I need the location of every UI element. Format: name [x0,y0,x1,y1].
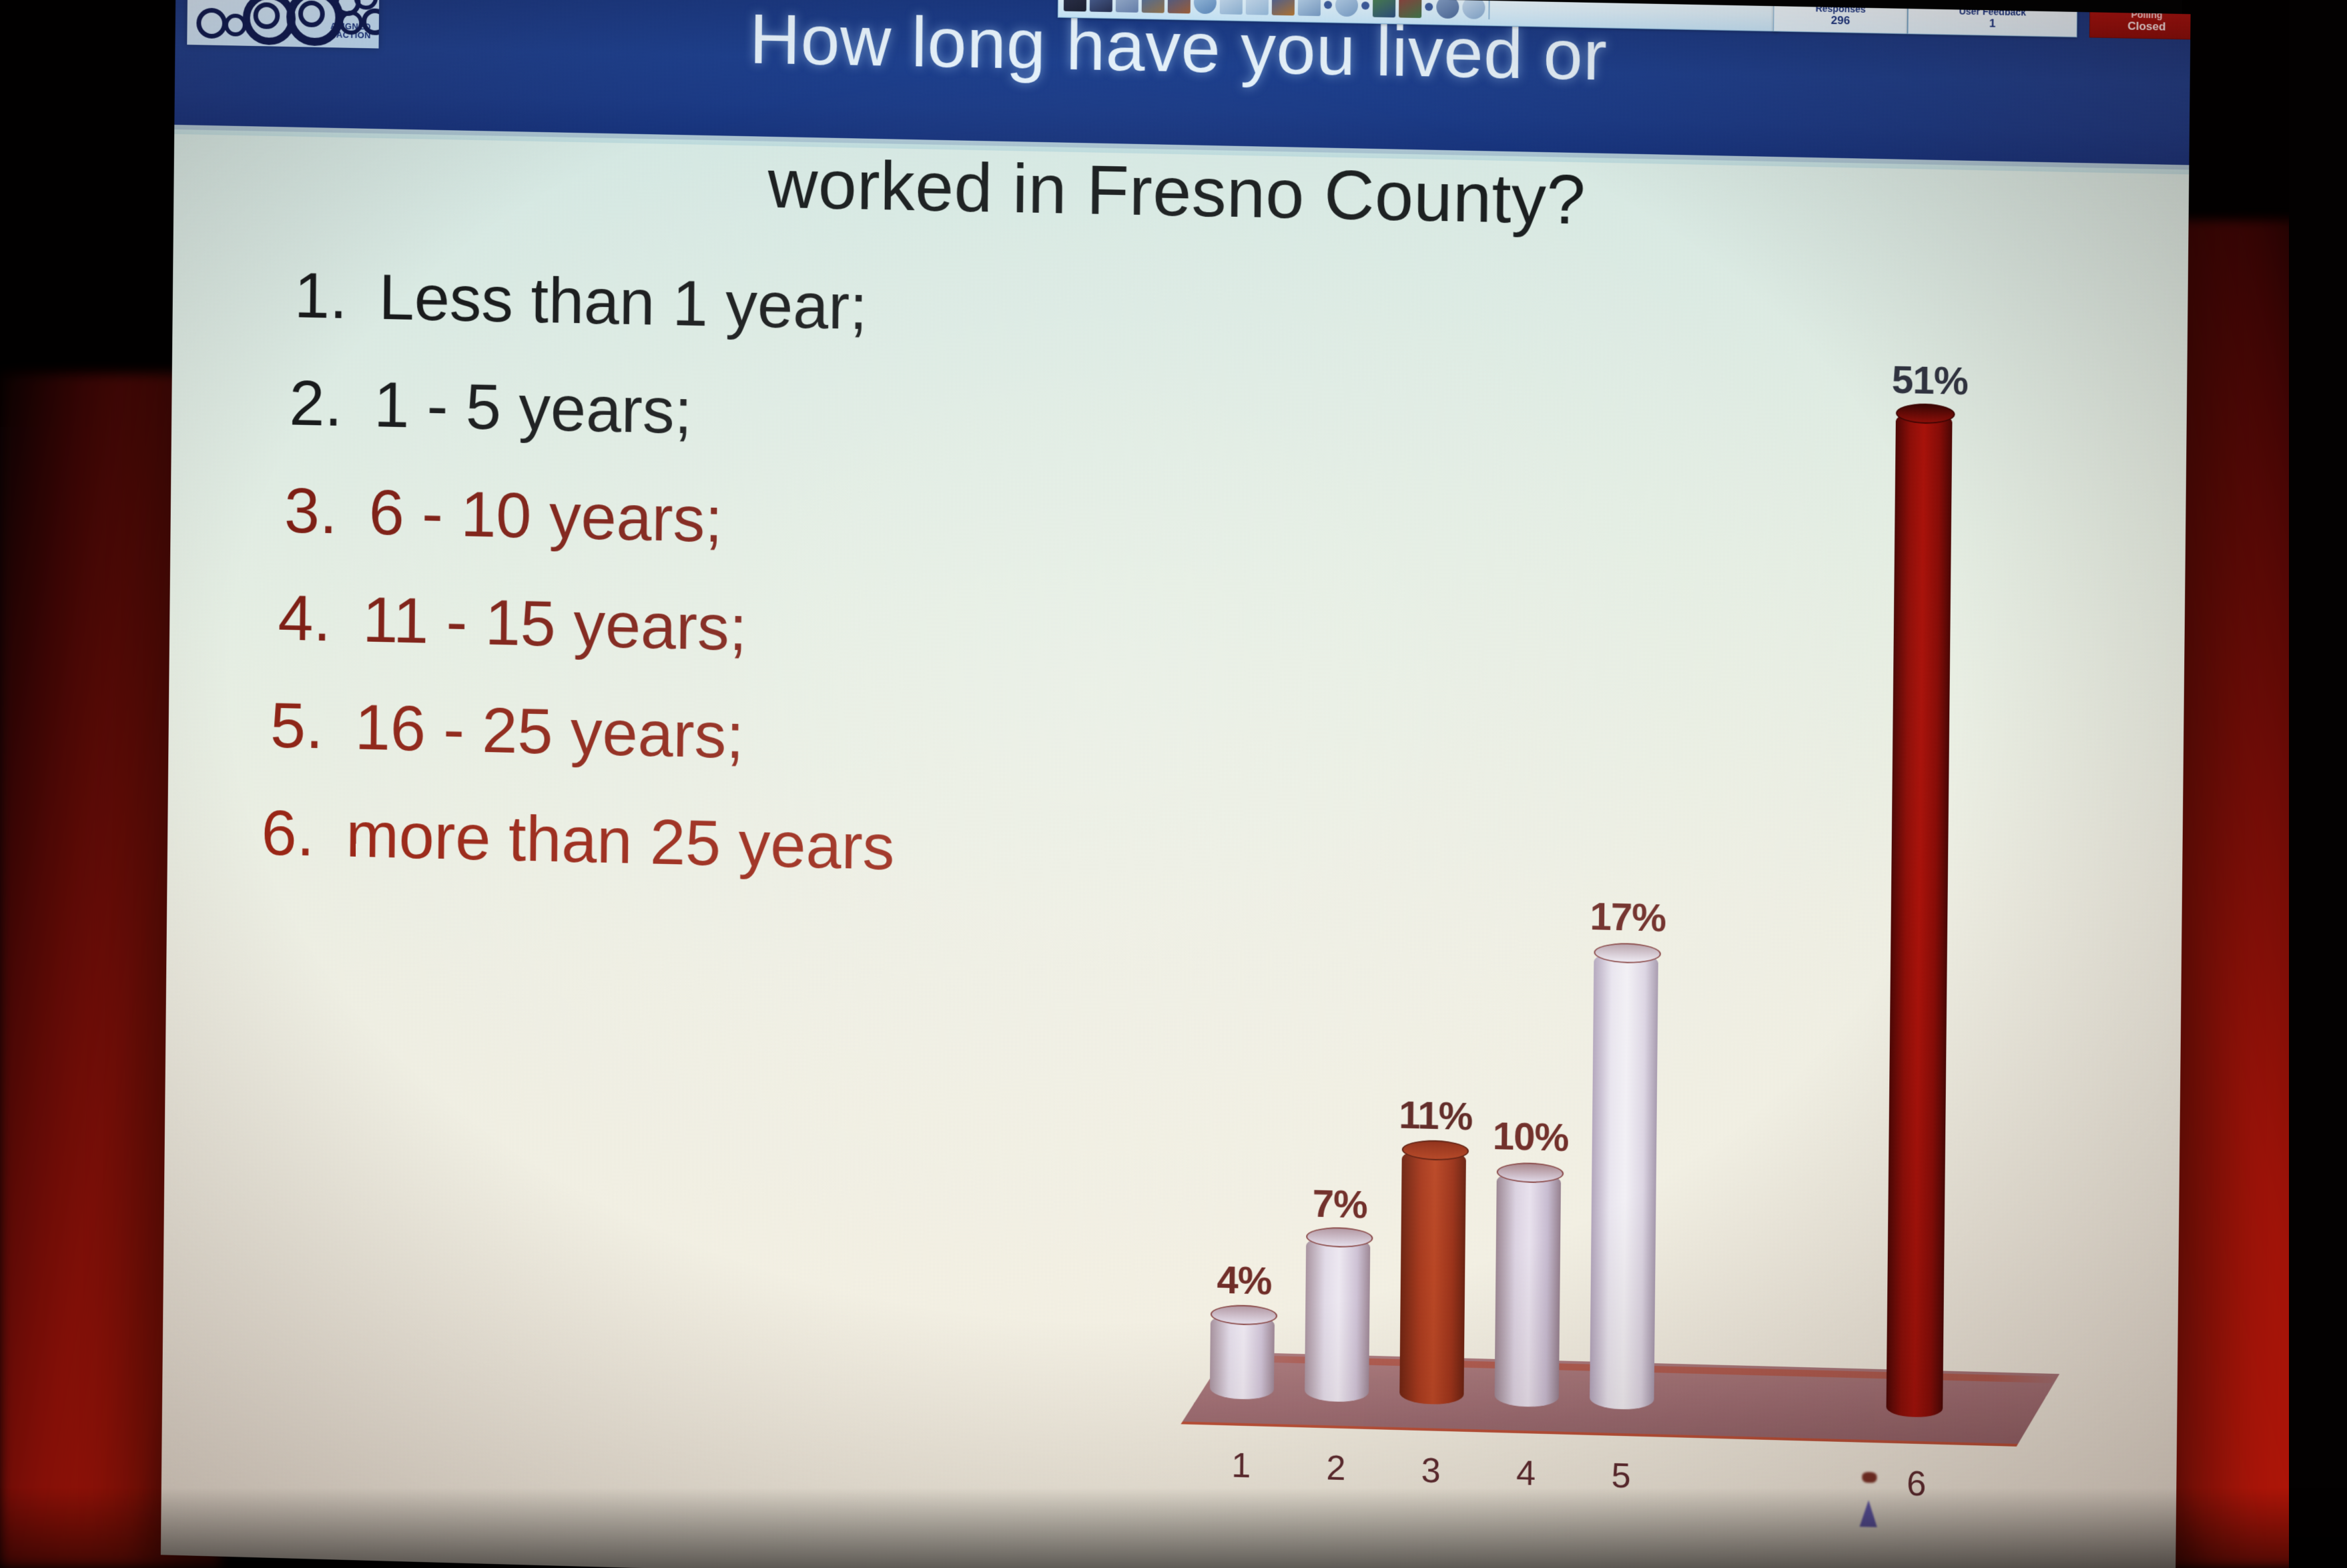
responses-value: 296 [1831,14,1851,26]
gear-icon-6 [298,1,325,28]
globe-icon[interactable] [1194,0,1217,14]
chart-bar [1305,1235,1371,1403]
answer-number: 3. [284,478,370,545]
chart-bar [1886,412,1952,1418]
chart-bar-cap [1594,942,1661,964]
chart-bar-cap [1402,1140,1469,1162]
answer-text: 1 - 5 years; [374,372,693,444]
answer-number: 4. [278,586,363,653]
group-icon[interactable] [1373,0,1395,17]
chart-bar [1210,1313,1275,1401]
projected-slide-wrapper: How long have you lived or worked in Fre… [161,0,2191,1568]
x-axis-tick-3: 3 [1391,1450,1471,1492]
dot-icon[interactable] [1361,1,1369,9]
bar-data-label: 17% [1561,893,1696,941]
chart-bar [1494,1170,1561,1407]
connect-icon[interactable] [1436,0,1459,19]
document-icon[interactable] [1220,0,1243,15]
user-feedback-counter[interactable]: User Feedback 1 [1908,0,2078,37]
answer-text: more than 25 years [346,802,895,880]
page-icon[interactable] [1246,0,1269,15]
chart-bar-cap [1896,403,1955,424]
chart-bar-cap [1497,1162,1564,1184]
chart-bar-cap [1211,1304,1277,1326]
chart-bar-cap [1306,1226,1373,1248]
projection-photo: How long have you lived or worked in Fre… [0,0,2347,1568]
polling-status-label: Polling [2131,9,2162,19]
bar-data-label: 4% [1177,1256,1311,1304]
cut-icon[interactable] [1116,0,1138,13]
answer-number: 1. [294,264,380,330]
answer-text: 6 - 10 years; [368,480,723,552]
x-axis-tick-2: 2 [1296,1447,1377,1489]
answer-number: 5. [270,693,356,760]
user-feedback-value: 1 [1989,17,1996,29]
list-icon[interactable] [1298,0,1321,16]
bottom-shadow [0,1488,2347,1568]
circle-icon[interactable] [1335,0,1358,17]
gear-icon-9 [339,11,363,35]
dark-room-right-edge [2289,0,2347,1568]
answer-number: 6. [261,800,346,867]
results-chart: 4% 7% 11% 10% [1150,195,2148,1529]
chart-icon[interactable] [1142,0,1164,13]
toolbar-separator [1488,0,1489,19]
gear-icon-4 [253,2,280,29]
presentation-pointer-dot [1862,1472,1877,1483]
answer-number: 2. [289,371,374,438]
user-feedback-label: User Feedback [1959,6,2027,17]
bar-data-label: 10% [1463,1113,1598,1161]
image-icon[interactable] [1168,0,1191,13]
polling-status-value: Closed [2127,20,2165,32]
answer-text: 16 - 25 years; [354,695,744,769]
dot2-icon[interactable] [1425,3,1433,11]
bar-data-label: 51% [1863,357,1997,405]
bullet-icon[interactable] [1324,1,1332,9]
palette-icon[interactable] [1399,0,1421,18]
collective-focus-logo: COLLECTIVE FOCUS ALIGNED ACTION [187,0,379,49]
polling-status-badge[interactable]: Polling Closed [2089,1,2191,40]
gear-icon-1 [196,8,227,39]
presentation-slide: How long have you lived or worked in Fre… [161,0,2191,1568]
answer-text: Less than 1 year; [378,265,868,340]
responses-counter[interactable]: Responses 296 [1773,0,1908,34]
x-axis-tick-1: 1 [1201,1445,1282,1487]
chart-bar [1590,951,1658,1410]
color-icon[interactable] [1272,0,1295,15]
chart-bar [1399,1148,1466,1405]
bar-data-label: 7% [1273,1180,1407,1228]
responses-label: Responses [1815,3,1865,13]
timer-icon[interactable] [1462,0,1485,19]
edit-icon[interactable] [1090,0,1112,12]
answer-text: 11 - 15 years; [362,587,747,661]
slideshow-icon[interactable] [1064,0,1086,11]
